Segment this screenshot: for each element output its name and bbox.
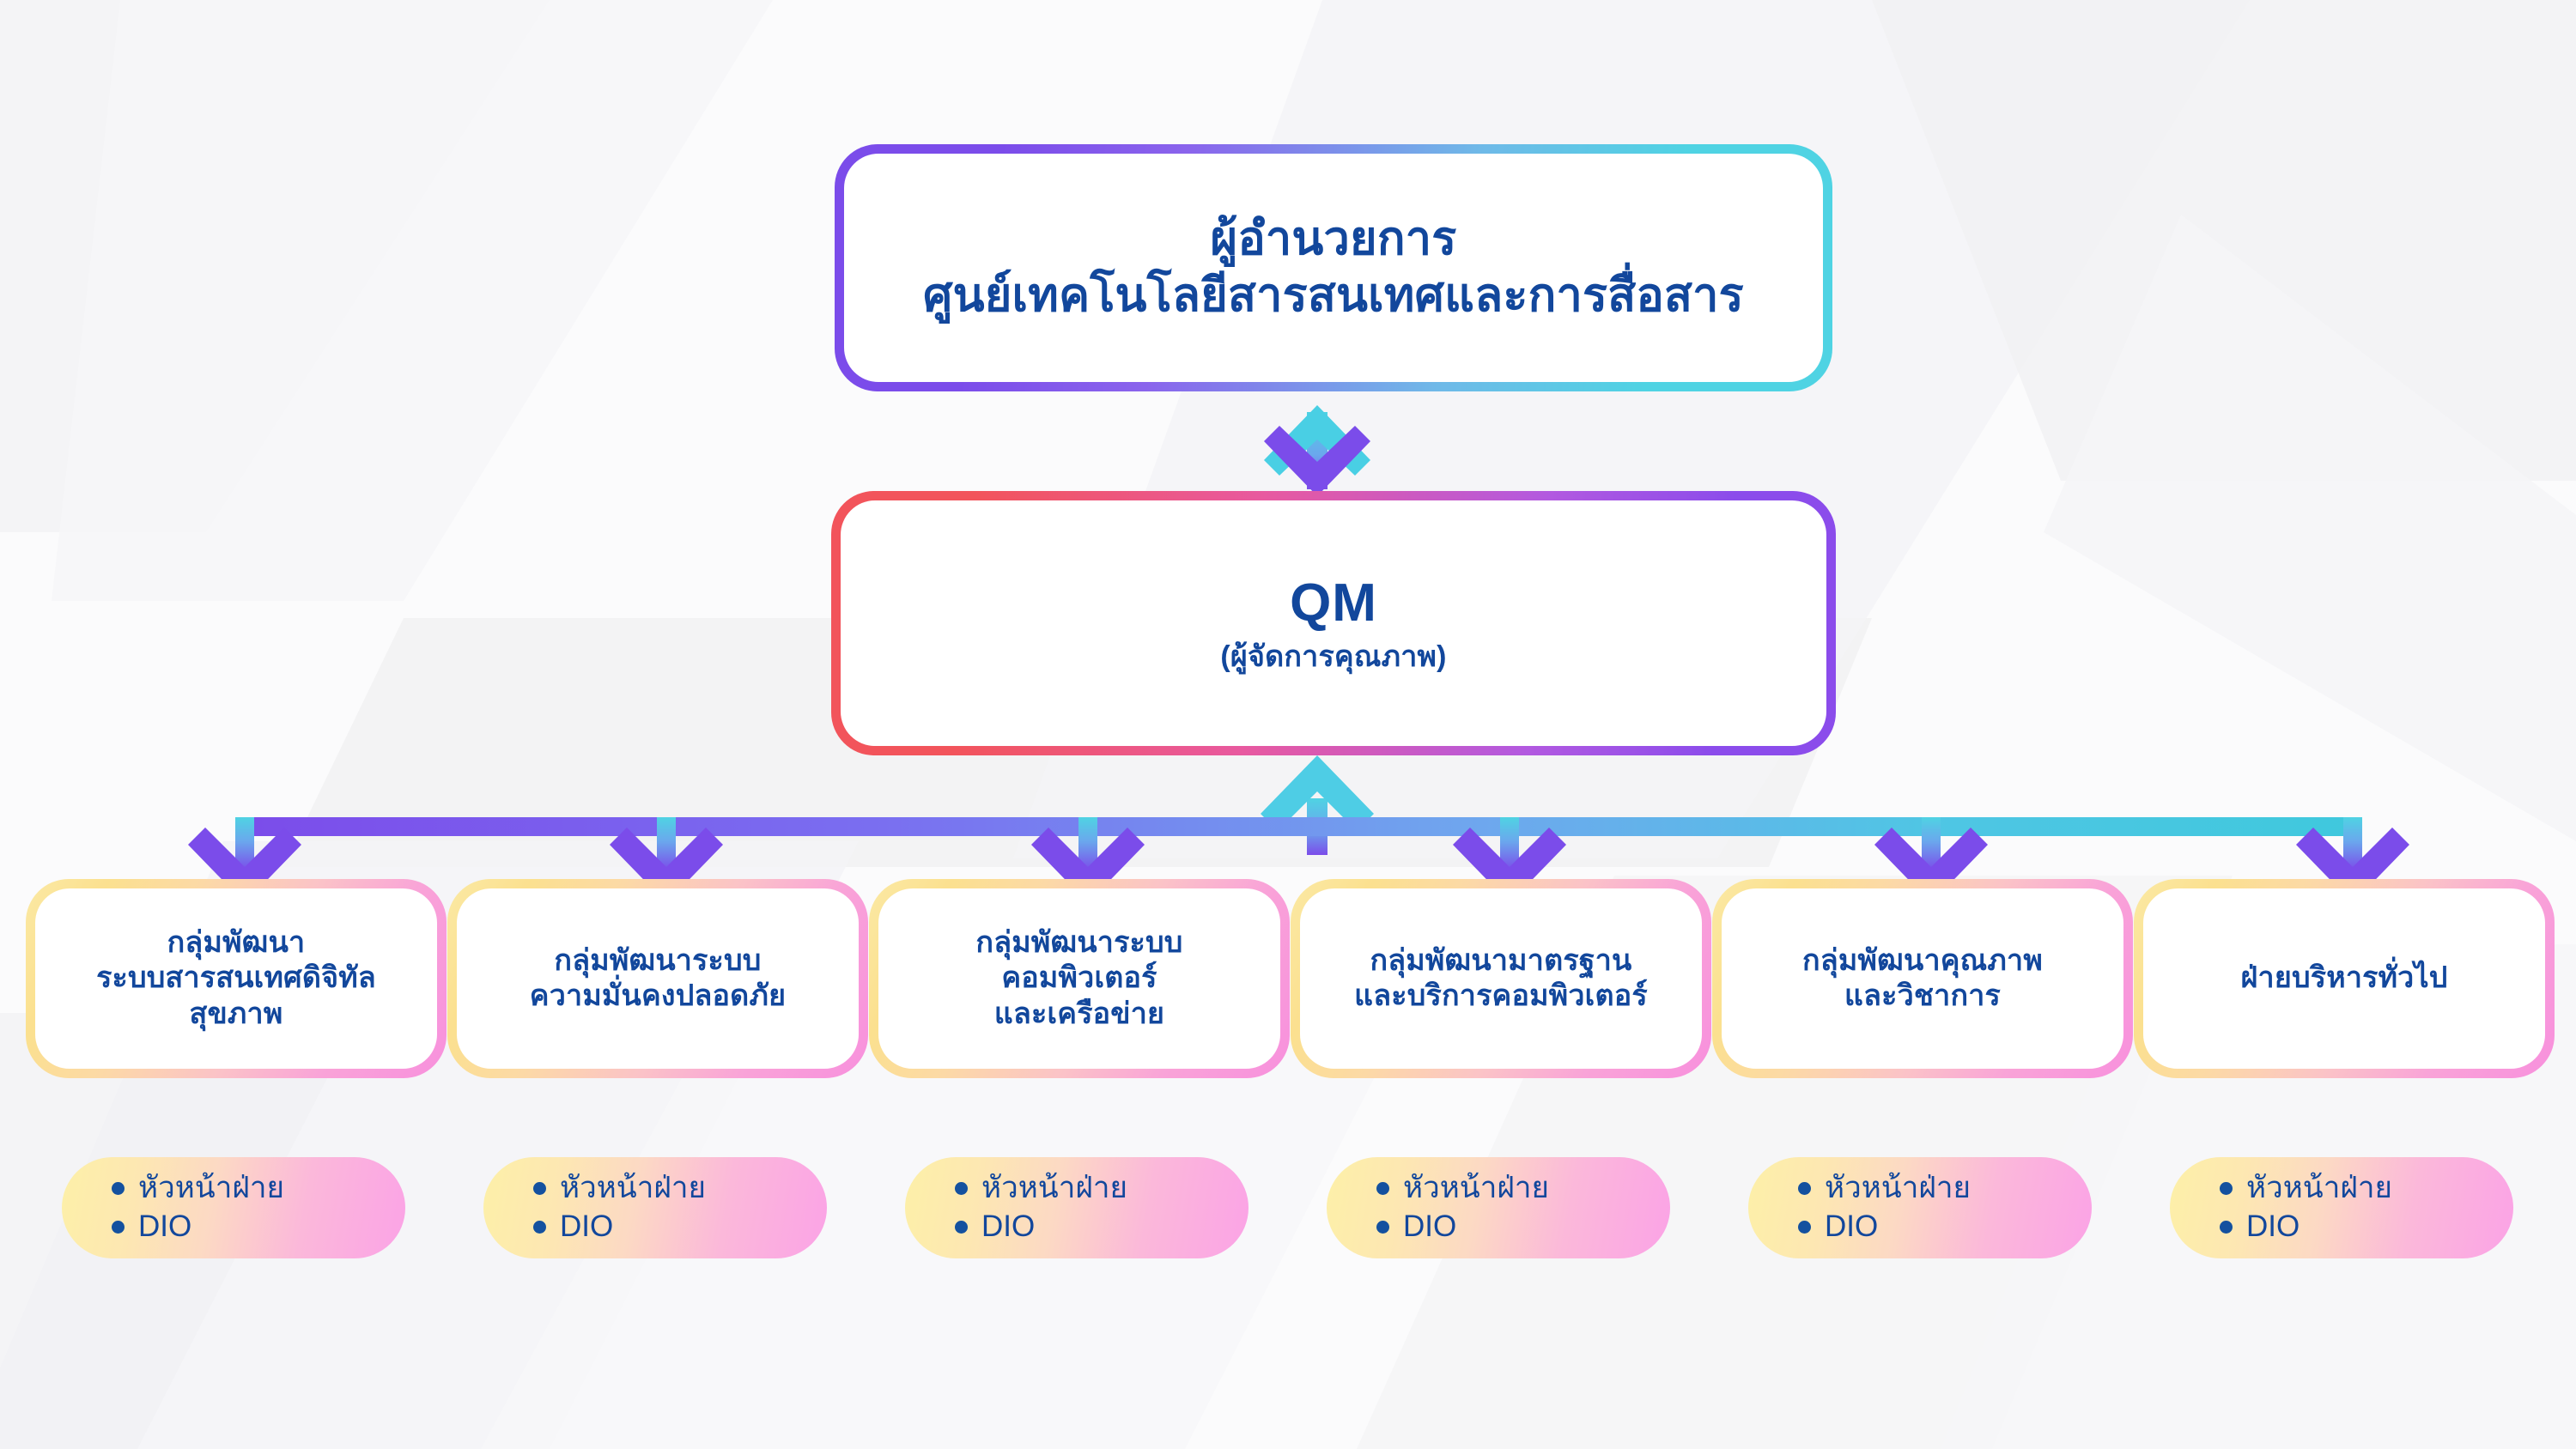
- node-unit-6[interactable]: ฝ่ายบริหารทั่วไป: [2134, 879, 2555, 1078]
- unit-3-text: กลุ่มพัฒนาระบบ คอมพิวเตอร์ และเครือข่าย: [975, 925, 1182, 1032]
- bullet-icon: [1376, 1221, 1389, 1234]
- bullet-icon: [1798, 1221, 1811, 1234]
- unit-3-line-3: และเครือข่าย: [975, 997, 1182, 1032]
- bullet-icon: [533, 1221, 546, 1234]
- bullet-icon: [2220, 1182, 2233, 1195]
- bullet-icon: [1376, 1182, 1389, 1195]
- roles-pill-unit-2[interactable]: หัวหน้าฝ่าย DIO: [483, 1157, 827, 1258]
- unit-1-line-2: ระบบสารสนเทศดิจิทัล: [96, 961, 376, 996]
- role-item: หัวหน้าฝ่าย: [1376, 1169, 1670, 1208]
- unit-2-line-2: ความมั่นคงปลอดภัย: [530, 979, 786, 1014]
- unit-6-text: ฝ่ายบริหารทั่วไป: [2240, 961, 2447, 996]
- node-unit-1[interactable]: กลุ่มพัฒนา ระบบสารสนเทศดิจิทัล สุขภาพ: [26, 879, 447, 1078]
- role-item: DIO: [1798, 1208, 2092, 1246]
- node-director[interactable]: ผู้อำนวยการ ศูนย์เทคโนโลยีสารสนเทศและการ…: [835, 144, 1832, 391]
- role-item: หัวหน้าฝ่าย: [112, 1169, 405, 1208]
- unit-1-line-3: สุขภาพ: [96, 997, 376, 1032]
- node-unit-2[interactable]: กลุ่มพัฒนาระบบ ความมั่นคงปลอดภัย: [447, 879, 868, 1078]
- role-label: หัวหน้าฝ่าย: [2246, 1169, 2392, 1208]
- role-item: หัวหน้าฝ่าย: [1798, 1169, 2092, 1208]
- unit-3-line-2: คอมพิวเตอร์: [975, 961, 1182, 996]
- roles-pill-unit-3[interactable]: หัวหน้าฝ่าย DIO: [905, 1157, 1249, 1258]
- role-label: DIO: [2246, 1208, 2300, 1246]
- bullet-icon: [2220, 1221, 2233, 1234]
- roles-pill-unit-5[interactable]: หัวหน้าฝ่าย DIO: [1748, 1157, 2092, 1258]
- unit-2-text: กลุ่มพัฒนาระบบ ความมั่นคงปลอดภัย: [530, 943, 786, 1015]
- role-label: หัวหน้าฝ่าย: [1403, 1169, 1549, 1208]
- role-item: DIO: [1376, 1208, 1670, 1246]
- role-item: หัวหน้าฝ่าย: [2220, 1169, 2513, 1208]
- role-label: หัวหน้าฝ่าย: [560, 1169, 706, 1208]
- role-item: DIO: [2220, 1208, 2513, 1246]
- role-item: DIO: [533, 1208, 827, 1246]
- director-text: ผู้อำนวยการ ศูนย์เทคโนโลยีสารสนเทศและการ…: [923, 211, 1744, 324]
- unit-4-text: กลุ่มพัฒนามาตรฐาน และบริการคอมพิวเตอร์: [1354, 943, 1648, 1015]
- role-label: หัวหน้าฝ่าย: [981, 1169, 1127, 1208]
- unit-6-line-1: ฝ่ายบริหารทั่วไป: [2240, 961, 2447, 996]
- node-unit-4[interactable]: กลุ่มพัฒนามาตรฐาน และบริการคอมพิวเตอร์: [1291, 879, 1711, 1078]
- role-item: DIO: [955, 1208, 1249, 1246]
- unit-4-line-1: กลุ่มพัฒนามาตรฐาน: [1354, 943, 1648, 979]
- role-label: DIO: [138, 1208, 191, 1246]
- qm-line-1: QM: [1220, 571, 1446, 636]
- bullet-icon: [533, 1182, 546, 1195]
- roles-pill-unit-4[interactable]: หัวหน้าฝ่าย DIO: [1327, 1157, 1670, 1258]
- node-unit-5[interactable]: กลุ่มพัฒนาคุณภาพ และวิชาการ: [1712, 879, 2133, 1078]
- roles-pill-unit-6[interactable]: หัวหน้าฝ่าย DIO: [2170, 1157, 2513, 1258]
- unit-5-line-2: และวิชาการ: [1802, 979, 2043, 1014]
- role-label: หัวหน้าฝ่าย: [138, 1169, 284, 1208]
- role-label: หัวหน้าฝ่าย: [1825, 1169, 1971, 1208]
- bullet-icon: [1798, 1182, 1811, 1195]
- role-item: หัวหน้าฝ่าย: [533, 1169, 827, 1208]
- org-chart-canvas: ผู้อำนวยการ ศูนย์เทคโนโลยีสารสนเทศและการ…: [0, 0, 2576, 1449]
- roles-pill-unit-1[interactable]: หัวหน้าฝ่าย DIO: [62, 1157, 405, 1258]
- bullet-icon: [112, 1182, 125, 1195]
- qm-line-2: (ผู้จัดการคุณภาพ): [1220, 640, 1446, 675]
- unit-1-line-1: กลุ่มพัฒนา: [96, 925, 376, 961]
- director-line-1: ผู้อำนวยการ: [923, 211, 1744, 268]
- bullet-icon: [955, 1182, 968, 1195]
- distribution-bus: [237, 817, 2358, 836]
- role-label: DIO: [981, 1208, 1035, 1246]
- unit-2-line-1: กลุ่มพัฒนาระบบ: [530, 943, 786, 979]
- director-line-2: ศูนย์เทคโนโลยีสารสนเทศและการสื่อสาร: [923, 268, 1744, 324]
- unit-4-line-2: และบริการคอมพิวเตอร์: [1354, 979, 1648, 1014]
- role-label: DIO: [1825, 1208, 1878, 1246]
- unit-5-line-1: กลุ่มพัฒนาคุณภาพ: [1802, 943, 2043, 979]
- bullet-icon: [112, 1221, 125, 1234]
- unit-3-line-1: กลุ่มพัฒนาระบบ: [975, 925, 1182, 961]
- role-item: หัวหน้าฝ่าย: [955, 1169, 1249, 1208]
- connector-director-qm: [1264, 405, 1370, 498]
- role-label: DIO: [560, 1208, 613, 1246]
- unit-1-text: กลุ่มพัฒนา ระบบสารสนเทศดิจิทัล สุขภาพ: [96, 925, 376, 1032]
- connector-qm-bus: [1261, 755, 1374, 855]
- role-item: DIO: [112, 1208, 405, 1246]
- bullet-icon: [955, 1221, 968, 1234]
- node-qm[interactable]: QM (ผู้จัดการคุณภาพ): [831, 491, 1836, 755]
- node-unit-3[interactable]: กลุ่มพัฒนาระบบ คอมพิวเตอร์ และเครือข่าย: [869, 879, 1290, 1078]
- qm-text: QM (ผู้จัดการคุณภาพ): [1220, 571, 1446, 675]
- role-label: DIO: [1403, 1208, 1456, 1246]
- unit-5-text: กลุ่มพัฒนาคุณภาพ และวิชาการ: [1802, 943, 2043, 1015]
